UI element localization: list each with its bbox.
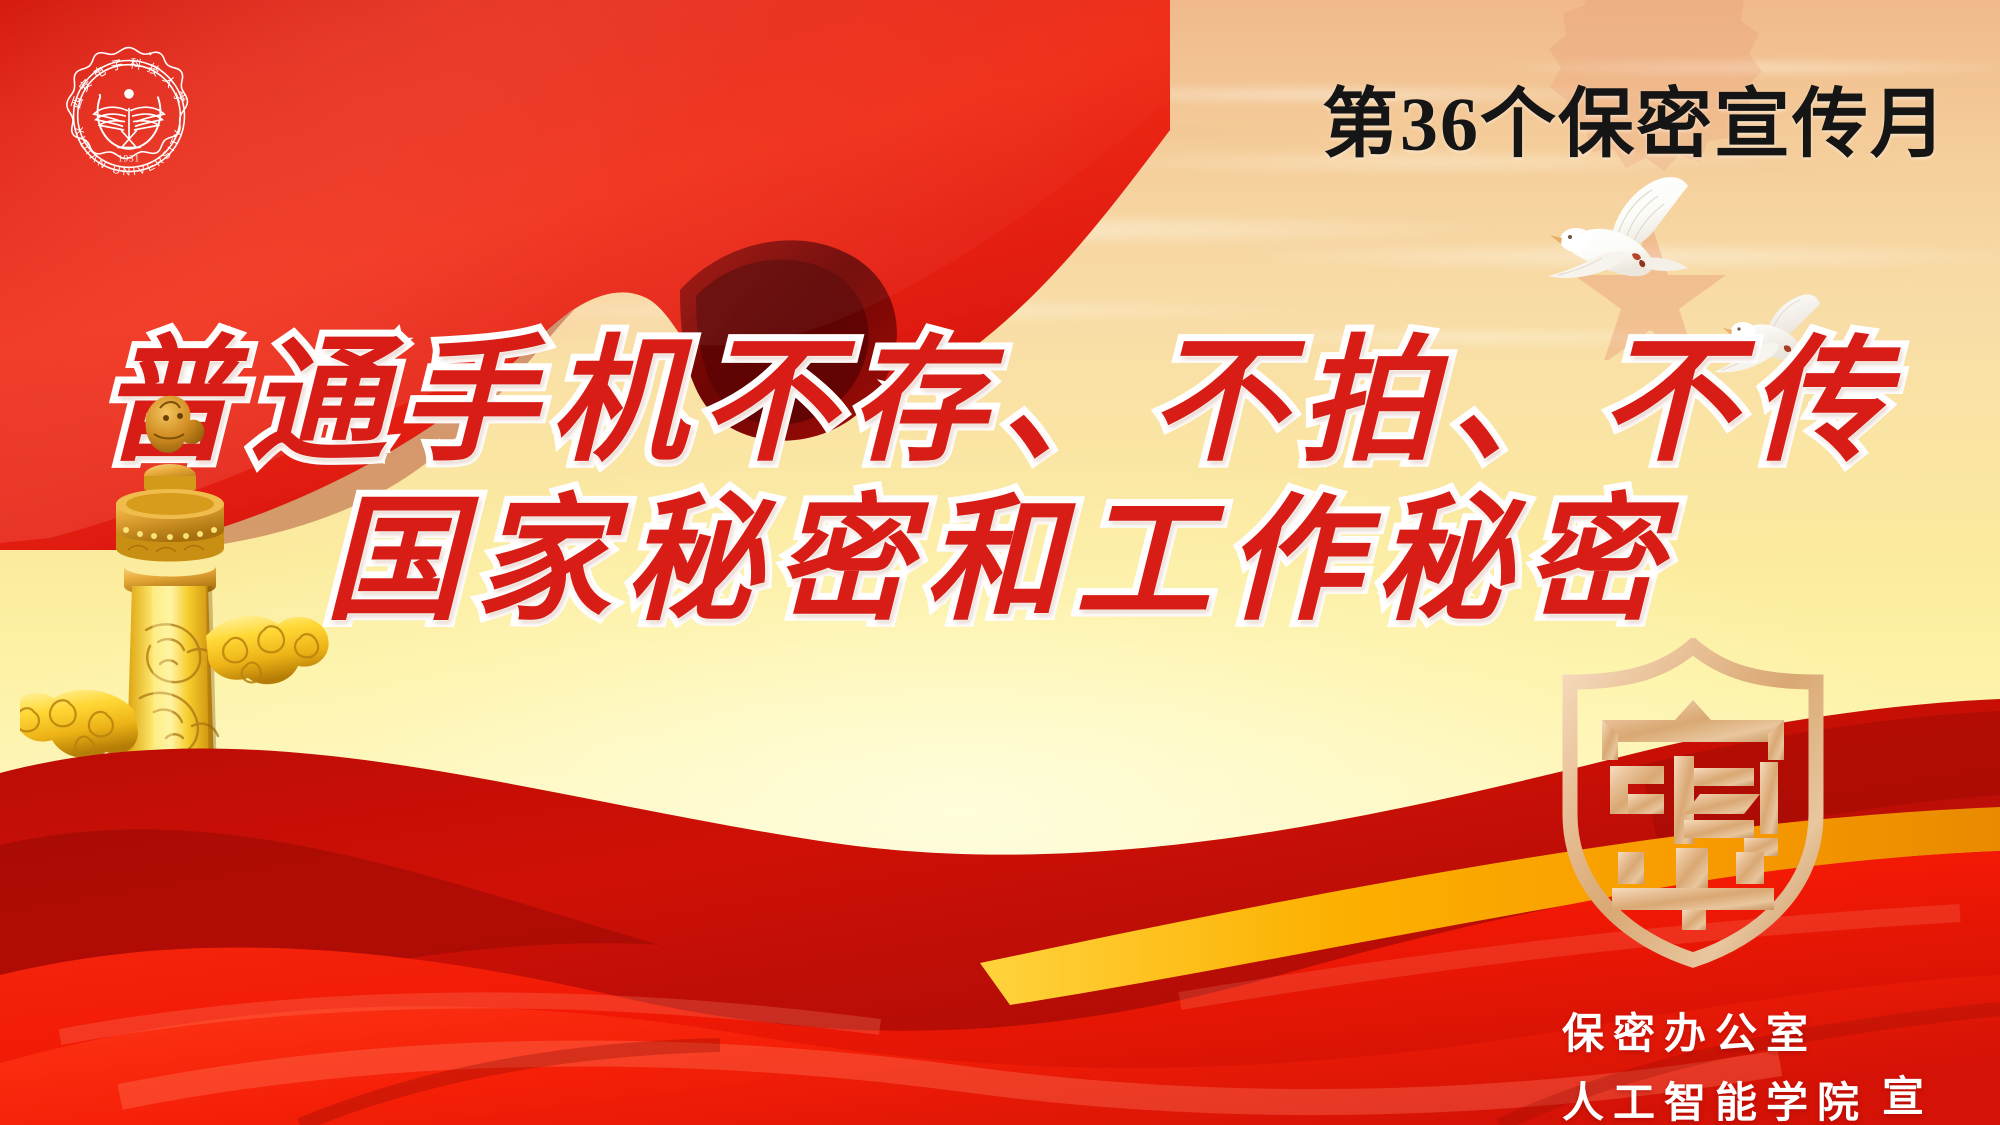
signature-lines: 保密办公室 人工智能学院 — [1562, 1000, 1868, 1125]
signature-suffix: 宣 — [1882, 1063, 1924, 1125]
signature-block: 保密办公室 人工智能学院 宣 — [1562, 1000, 1924, 1125]
signature-school: 人工智能学院 — [1562, 1069, 1868, 1125]
xidian-university-logo: 1931 XIDIAN UNIVERSITY 西安电子科技大学 — [55, 42, 203, 190]
mi-character-glyph — [1602, 700, 1784, 930]
signature-office: 保密办公室 — [1562, 1000, 1868, 1061]
dove-icon-small — [1712, 288, 1844, 392]
confidentiality-shield-emblem — [1548, 638, 1838, 968]
huabiao-beast — [146, 396, 205, 453]
logo-year: 1931 — [118, 154, 140, 164]
dove-icon-large — [1540, 172, 1730, 322]
poster-canvas: 1931 XIDIAN UNIVERSITY 西安电子科技大学 第36个保密宣传… — [0, 0, 2000, 1125]
campaign-header-title: 第36个保密宣传月 — [1322, 62, 1948, 172]
